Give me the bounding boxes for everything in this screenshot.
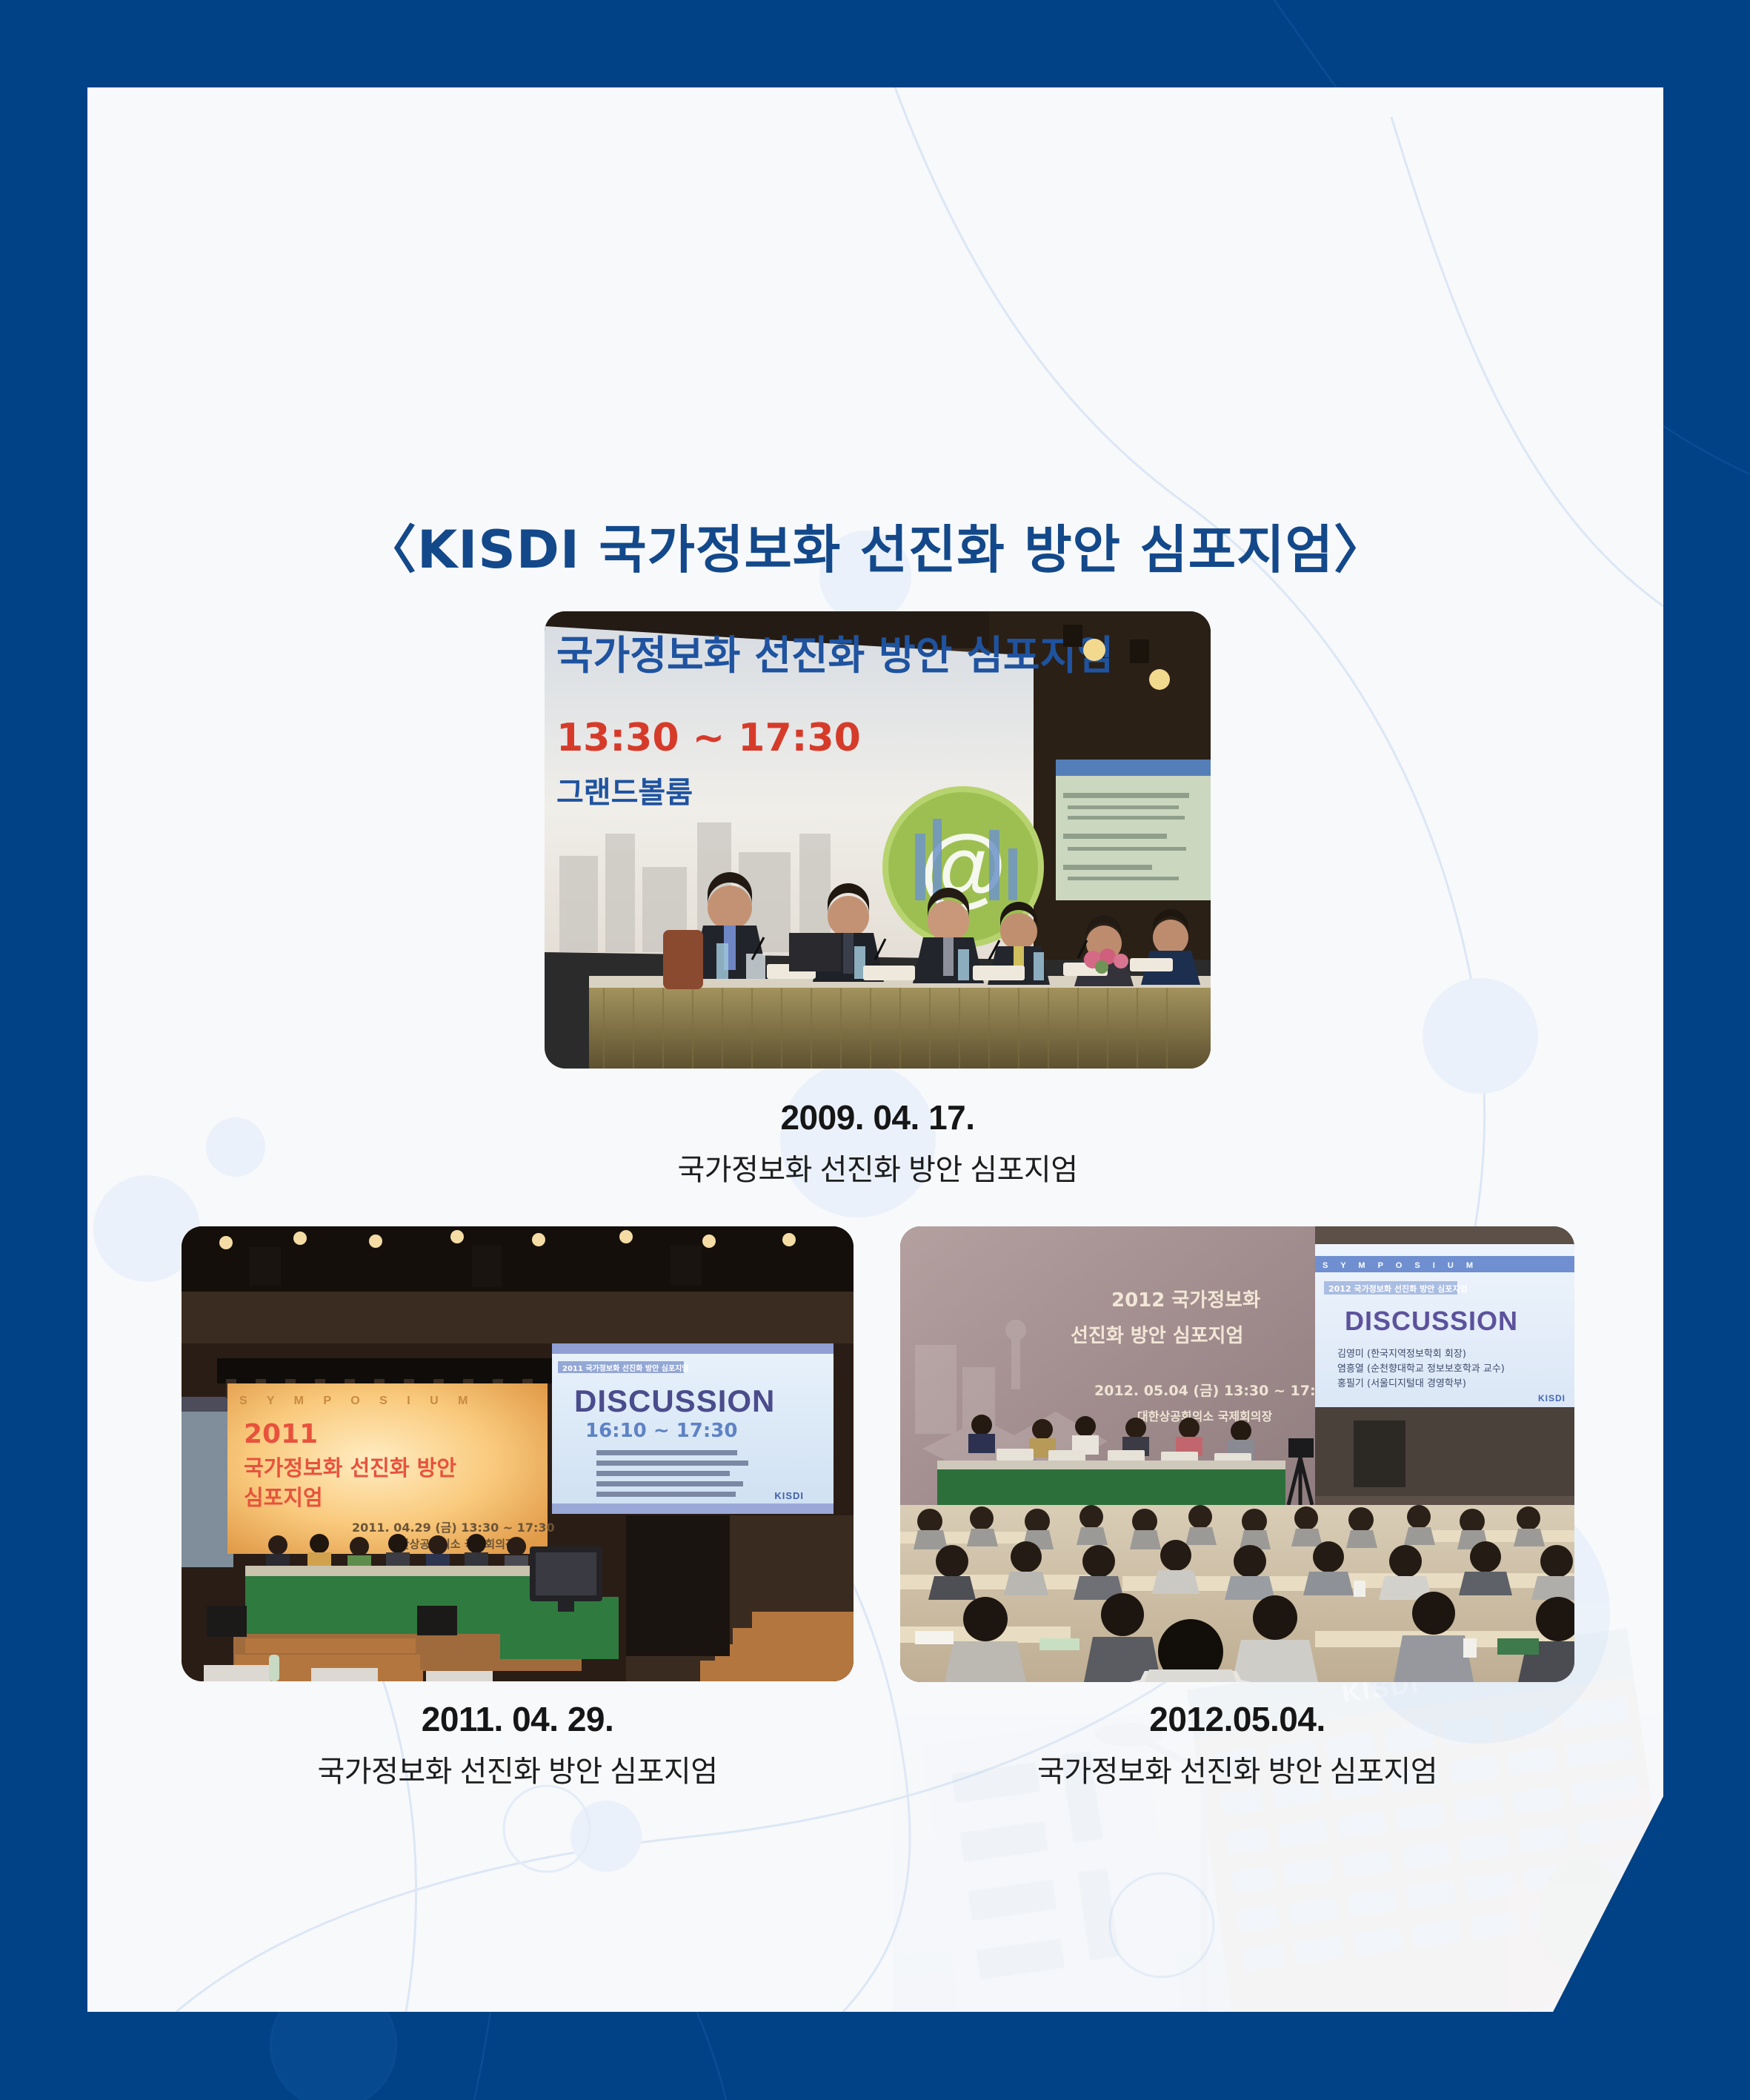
- photo-2012-banner-title-line1: 2012 국가정보화: [1111, 1289, 1260, 1312]
- photo-2012-image: 2012 국가정보화 선진화 방안 심포지엄 2012. 05.04 (금) 1…: [900, 1226, 1574, 1682]
- caption-2011-description: 국가정보화 선진화 방안 심포지엄: [144, 1750, 891, 1793]
- caption-2011: 2011. 04. 29. 국가정보화 선진화 방안 심포지엄: [144, 1698, 891, 1793]
- photo-2009-banner-venue: 그랜드볼룸: [556, 776, 693, 810]
- photo-2011-slide-logo: KISDI: [774, 1490, 804, 1501]
- page-card: KISDI 〈KISDI 국가정보화 선진화 방안 심포지엄〉: [87, 87, 1663, 2012]
- photo-2012[interactable]: 2012 국가정보화 선진화 방안 심포지엄 2012. 05.04 (금) 1…: [900, 1226, 1574, 1682]
- caption-2009-description: 국가정보화 선진화 방안 심포지엄: [545, 1149, 1211, 1192]
- photo-2012-banner-venue: 대한상공회의소 국제회의장: [1137, 1409, 1272, 1423]
- photo-2011-slide-header: 2011 국가정보화 선진화 방안 심포지엄: [562, 1363, 689, 1373]
- photo-2009-banner-time: 13:30 ~ 17:30: [556, 716, 861, 760]
- photo-2012-slide-header: 2012 국가정보화 선진화 방안 심포지엄: [1328, 1283, 1468, 1294]
- photo-2012-slide-title: DISCUSSION: [1345, 1306, 1518, 1336]
- photo-2009-image: @ 국가정보화 선진화 방안 심포지엄 " 13:30 ~ 17:30 그랜드볼…: [545, 611, 1211, 1069]
- photo-2012-banner-datetime: 2012. 05.04 (금) 13:30 ~ 17:40: [1094, 1383, 1335, 1399]
- photo-2011-backdrop-datetime: 2011. 04.29 (금) 13:30 ~ 17:30: [352, 1521, 555, 1535]
- photo-2009[interactable]: @ 국가정보화 선진화 방안 심포지엄 " 13:30 ~ 17:30 그랜드볼…: [545, 611, 1211, 1069]
- caption-2009: 2009. 04. 17. 국가정보화 선진화 방안 심포지엄: [545, 1097, 1211, 1192]
- page-title: 〈KISDI 국가정보화 선진화 방안 심포지엄〉: [87, 508, 1663, 583]
- photo-2011-backdrop-title-line2: 심포지엄: [244, 1485, 323, 1510]
- caption-2012: 2012.05.04. 국가정보화 선진화 방안 심포지엄: [863, 1698, 1611, 1793]
- photo-2011-backdrop-title-line1: 국가정보화 선진화 방안: [244, 1455, 456, 1481]
- photo-2012-slide-panelist-0: 김영미 (한국지역정보학회 회장): [1337, 1349, 1466, 1360]
- photo-2011-backdrop-symposium: S Y M P O S I U M: [239, 1395, 476, 1407]
- photo-2011-backdrop-venue: 대한상공회의소 국제회의장: [389, 1538, 516, 1551]
- photo-2011-backdrop-year: 2011: [244, 1419, 318, 1449]
- photo-2011[interactable]: S Y M P O S I U M 2011 국가정보화 선진화 방안 심포지엄…: [182, 1226, 854, 1681]
- photo-2011-slide-time: 16:10 ~ 17:30: [585, 1420, 737, 1442]
- photo-2012-slide-panelist-2: 홍필기 (서울디지털대 경영학부): [1337, 1378, 1466, 1389]
- caption-2012-date: 2012.05.04.: [863, 1698, 1611, 1741]
- photo-2009-banner-title: 국가정보화 선진화 방안 심포지엄 ": [556, 632, 1148, 679]
- photo-2011-image: S Y M P O S I U M 2011 국가정보화 선진화 방안 심포지엄…: [182, 1226, 854, 1681]
- photo-2012-banner-title-line2: 선진화 방안 심포지엄: [1071, 1325, 1243, 1347]
- photo-2012-slide-symposium: S Y M P O S I U M: [1323, 1261, 1478, 1270]
- caption-2011-date: 2011. 04. 29.: [144, 1698, 891, 1741]
- caption-2012-description: 국가정보화 선진화 방안 심포지엄: [863, 1750, 1611, 1793]
- caption-2009-date: 2009. 04. 17.: [545, 1097, 1211, 1140]
- photo-2011-slide-title: DISCUSSION: [574, 1383, 775, 1418]
- photo-2012-slide-logo: KISDI: [1538, 1393, 1566, 1403]
- photo-2012-slide-panelist-1: 염흥열 (순천향대학교 정보보호학과 교수): [1337, 1363, 1505, 1375]
